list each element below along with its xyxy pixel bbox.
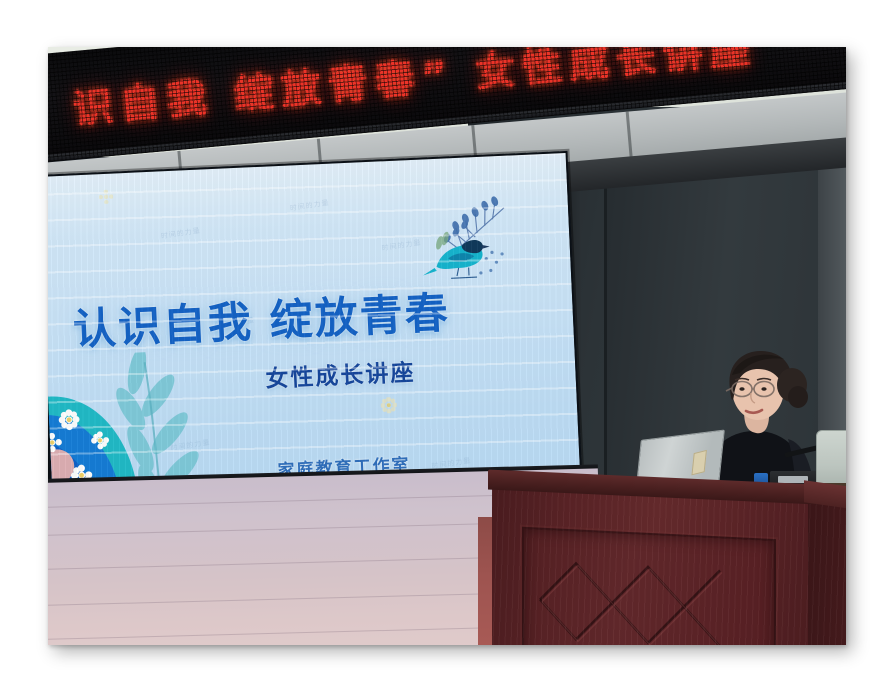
slide-title: 认识自我 绽放青春 (72, 278, 451, 357)
lectern-podium (488, 477, 846, 645)
podium-front-face (492, 485, 808, 645)
podium-side-face (804, 496, 846, 645)
photograph: 识自我 绽放青春” 女性成长讲座 时间的力量 时间的力量 时间的力量 时间的力量… (48, 47, 846, 645)
podium-zigzag-carving (536, 553, 756, 645)
slide-subtitle: 女性成长讲座 (265, 353, 416, 394)
daisy-icon (99, 190, 114, 205)
photo-page: 识自我 绽放青春” 女性成长讲座 时间的力量 时间的力量 时间的力量 时间的力量… (0, 0, 896, 695)
daisy-icon (380, 397, 397, 414)
laptop-sticker (691, 450, 706, 475)
